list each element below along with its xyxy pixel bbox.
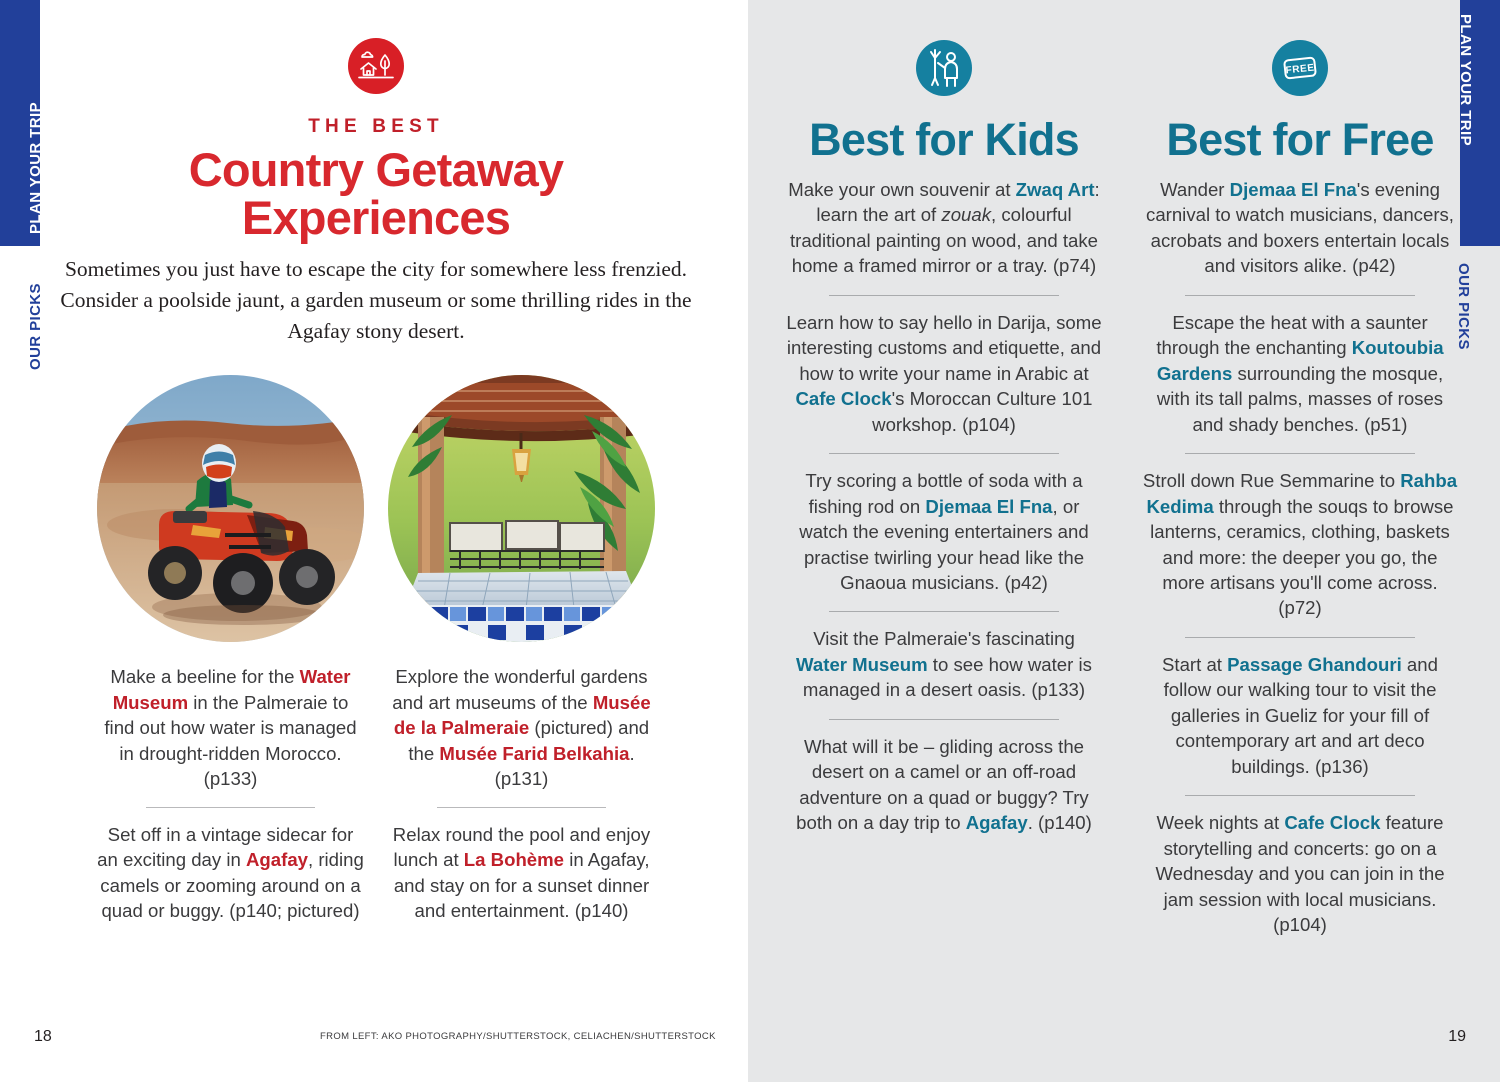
- divider: [829, 295, 1060, 296]
- free-badge-text: FREE: [1285, 63, 1315, 77]
- photo-row: [56, 375, 696, 642]
- caption-item: Explore the wonderful gardens and art mu…: [388, 664, 655, 791]
- page-left: PLAN YOUR TRIP OUR PICKS: [0, 0, 748, 1082]
- divider: [1185, 295, 1416, 296]
- house-tree-icon: [348, 38, 404, 94]
- tip-item: Wander Djemaa El Fna's evening carnival …: [1142, 177, 1458, 279]
- page-number-right: 19: [1448, 1028, 1466, 1046]
- the-best-badge-wrap: [56, 0, 696, 99]
- free-tag-icon: FREE: [1272, 40, 1328, 96]
- photo-credit: FROM LEFT: AKO PHOTOGRAPHY/SHUTTERSTOCK,…: [320, 1031, 716, 1042]
- divider: [1185, 453, 1416, 454]
- divider: [1185, 795, 1416, 796]
- section-tab-label: PLAN YOUR TRIP: [27, 102, 44, 234]
- divider: [437, 807, 605, 808]
- heading-best-for-kids: Best for Kids: [786, 117, 1102, 163]
- tip-item: Visit the Palmeraie's fascinating Water …: [786, 626, 1102, 702]
- child-with-kite-icon: [916, 40, 972, 96]
- caption-item: Set off in a vintage sidecar for an exci…: [97, 822, 364, 924]
- page-deck: Sometimes you just have to escape the ci…: [56, 254, 696, 348]
- divider: [1185, 637, 1416, 638]
- tip-item: Week nights at Cafe Clock feature storyt…: [1142, 810, 1458, 937]
- section-tab-plan-your-trip-right: PLAN YOUR TRIP: [1460, 0, 1500, 246]
- tip-item: Stroll down Rue Semmarine to Rahba Kedim…: [1142, 468, 1458, 621]
- page-right: PLAN YOUR TRIP OUR PICKS: [748, 0, 1500, 1082]
- subsection-tab-our-picks-left: OUR PICKS: [27, 283, 44, 370]
- free-badge-wrap: FREE: [1142, 40, 1458, 101]
- left-captions-row: Make a beeline for the Water Museum in t…: [56, 664, 696, 923]
- quad-bike-desert-photo: [97, 375, 364, 642]
- caption-column-2: Explore the wonderful gardens and art mu…: [388, 664, 655, 923]
- section-tab-label: PLAN YOUR TRIP: [1457, 14, 1474, 146]
- left-page-content: THE BEST Country Getaway Experiences Som…: [56, 0, 696, 924]
- tip-item: Escape the heat with a saunter through t…: [1142, 310, 1458, 437]
- tip-item: Start at Passage Ghandouri and follow ou…: [1142, 652, 1458, 779]
- tip-item: Learn how to say hello in Darija, some i…: [786, 310, 1102, 437]
- page-title: Country Getaway Experiences: [56, 146, 696, 242]
- section-tab-plan-your-trip: PLAN YOUR TRIP: [0, 0, 40, 246]
- tip-item: Make your own souvenir at Zwaq Art: lear…: [786, 177, 1102, 279]
- tip-item: Try scoring a bottle of soda with a fish…: [786, 468, 1102, 595]
- magazine-spread: PLAN YOUR TRIP OUR PICKS: [0, 0, 1500, 1082]
- kicker-the-best: THE BEST: [56, 116, 696, 138]
- divider: [146, 807, 314, 808]
- garden-pavilion-photo: [388, 375, 655, 642]
- divider: [829, 611, 1060, 612]
- column-best-for-free: FREE Best for Free Wander Djemaa El Fna'…: [1142, 0, 1458, 938]
- divider: [829, 719, 1060, 720]
- heading-best-for-free: Best for Free: [1142, 117, 1458, 163]
- column-best-for-kids: Best for Kids Make your own souvenir at …: [786, 0, 1102, 938]
- caption-item: Make a beeline for the Water Museum in t…: [97, 664, 364, 791]
- caption-column-1: Make a beeline for the Water Museum in t…: [97, 664, 364, 923]
- tip-item: What will it be – gliding across the des…: [786, 734, 1102, 836]
- divider: [829, 453, 1060, 454]
- kids-badge-wrap: [786, 40, 1102, 101]
- page-number-left: 18: [34, 1028, 52, 1046]
- right-page-content: Best for Kids Make your own souvenir at …: [786, 0, 1458, 938]
- caption-item: Relax round the pool and enjoy lunch at …: [388, 822, 655, 924]
